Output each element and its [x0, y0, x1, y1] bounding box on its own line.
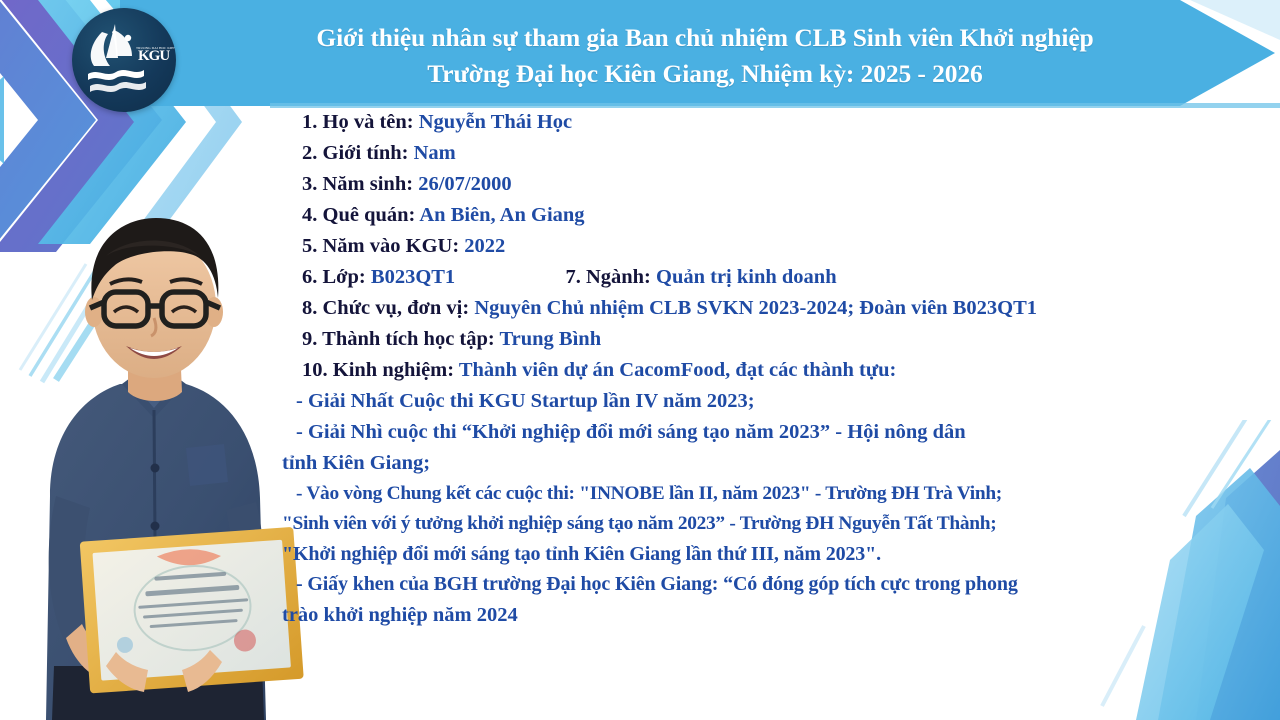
field-value-position: Nguyên Chủ nhiệm CLB SVKN 2023-2024; Đoà…: [474, 297, 1037, 319]
experience-line-6: "Khởi nghiệp đổi mới sáng tạo tỉnh Kiên …: [276, 544, 1276, 564]
experience-line-8: trào khởi nghiệp năm 2024: [276, 605, 1276, 626]
field-num-1: 1.: [302, 111, 317, 133]
person-photo: [10, 196, 306, 720]
experience-line-7: - Giấy khen của BGH trường Đại học Kiên …: [276, 574, 1276, 594]
field-value-class: B023QT1: [371, 266, 455, 288]
field-value-gender: Nam: [414, 142, 456, 164]
field-value-academic: Trung Bình: [500, 328, 602, 350]
experience-line-4: - Vào vòng Chung kết các cuộc thi: "INNO…: [276, 484, 1276, 503]
field-num-9: 9.: [302, 328, 317, 350]
field-label-birthyear: Năm sinh:: [323, 173, 414, 195]
field-label-experience: Kinh nghiệm:: [333, 359, 454, 381]
header-banner: [120, 0, 1280, 106]
field-row-academic: 9. Thành tích học tập: Trung Bình: [276, 329, 1276, 350]
field-num-10: 10.: [302, 359, 328, 381]
field-value-entryyear: 2022: [464, 235, 505, 257]
field-num-3: 3.: [302, 173, 317, 195]
field-value-experience: Thành viên dự án CacomFood, đạt các thàn…: [459, 359, 897, 381]
field-num-2: 2.: [302, 142, 317, 164]
field-value-fullname: Nguyễn Thái Học: [419, 111, 572, 133]
field-row-position: 8. Chức vụ, đơn vị: Nguyên Chủ nhiệm CLB…: [276, 298, 1276, 319]
field-label-major: Ngành:: [586, 266, 651, 288]
field-row-entryyear: 5. Năm vào KGU: 2022: [276, 236, 1276, 257]
field-label-gender: Giới tính:: [323, 142, 409, 164]
field-label-fullname: Họ và tên:: [323, 111, 414, 133]
field-label-position: Chức vụ, đơn vị:: [323, 297, 470, 319]
field-num-6: 6.: [302, 266, 317, 288]
experience-line-3: tỉnh Kiên Giang;: [276, 453, 1276, 474]
field-num-7: 7.: [565, 266, 580, 288]
experience-line-2: - Giải Nhì cuộc thi “Khởi nghiệp đổi mới…: [276, 422, 1276, 443]
field-row-class-and-major: 6. Lớp: B023QT1 7. Ngành: Quản trị kinh …: [276, 267, 1276, 288]
slide-root: Giới thiệu nhân sự tham gia Ban chủ nhiệ…: [0, 0, 1280, 720]
experience-line-5: "Sinh viên với ý tưởng khởi nghiệp sáng …: [276, 514, 1276, 533]
field-value-hometown: An Biên, An Giang: [419, 204, 584, 226]
field-value-major: Quản trị kinh doanh: [656, 266, 837, 288]
header-banner-underline: [270, 103, 1280, 108]
field-row-birthyear: 3. Năm sinh: 26/07/2000: [276, 174, 1276, 195]
field-value-birthyear: 26/07/2000: [418, 173, 511, 195]
field-label-hometown: Quê quán:: [323, 204, 416, 226]
field-label-entryyear: Năm vào KGU:: [323, 235, 460, 257]
profile-content: 1. Họ và tên: Nguyễn Thái Học 2. Giới tí…: [276, 112, 1276, 716]
field-row-fullname: 1. Họ và tên: Nguyễn Thái Học: [276, 112, 1276, 133]
field-row-gender: 2. Giới tính: Nam: [276, 143, 1276, 164]
field-label-academic: Thành tích học tập:: [322, 328, 495, 350]
field-num-8: 8.: [302, 297, 317, 319]
field-num-4: 4.: [302, 204, 317, 226]
field-row-hometown: 4. Quê quán: An Biên, An Giang: [276, 205, 1276, 226]
kgu-logo-text: KGU: [138, 48, 170, 64]
kgu-logo-mark: KGU TRUONG DAI HOC KIEN GIANG: [72, 8, 176, 112]
experience-line-1: - Giải Nhất Cuộc thi KGU Startup lần IV …: [276, 391, 1276, 412]
kgu-logo-subtext: TRUONG DAI HOC KIEN GIANG: [136, 46, 176, 50]
field-num-5: 5.: [302, 235, 317, 257]
kgu-logo: KGU TRUONG DAI HOC KIEN GIANG: [72, 8, 176, 112]
field-label-class: Lớp:: [323, 266, 366, 288]
field-row-experience: 10. Kinh nghiệm: Thành viên dự án CacomF…: [276, 360, 1276, 381]
